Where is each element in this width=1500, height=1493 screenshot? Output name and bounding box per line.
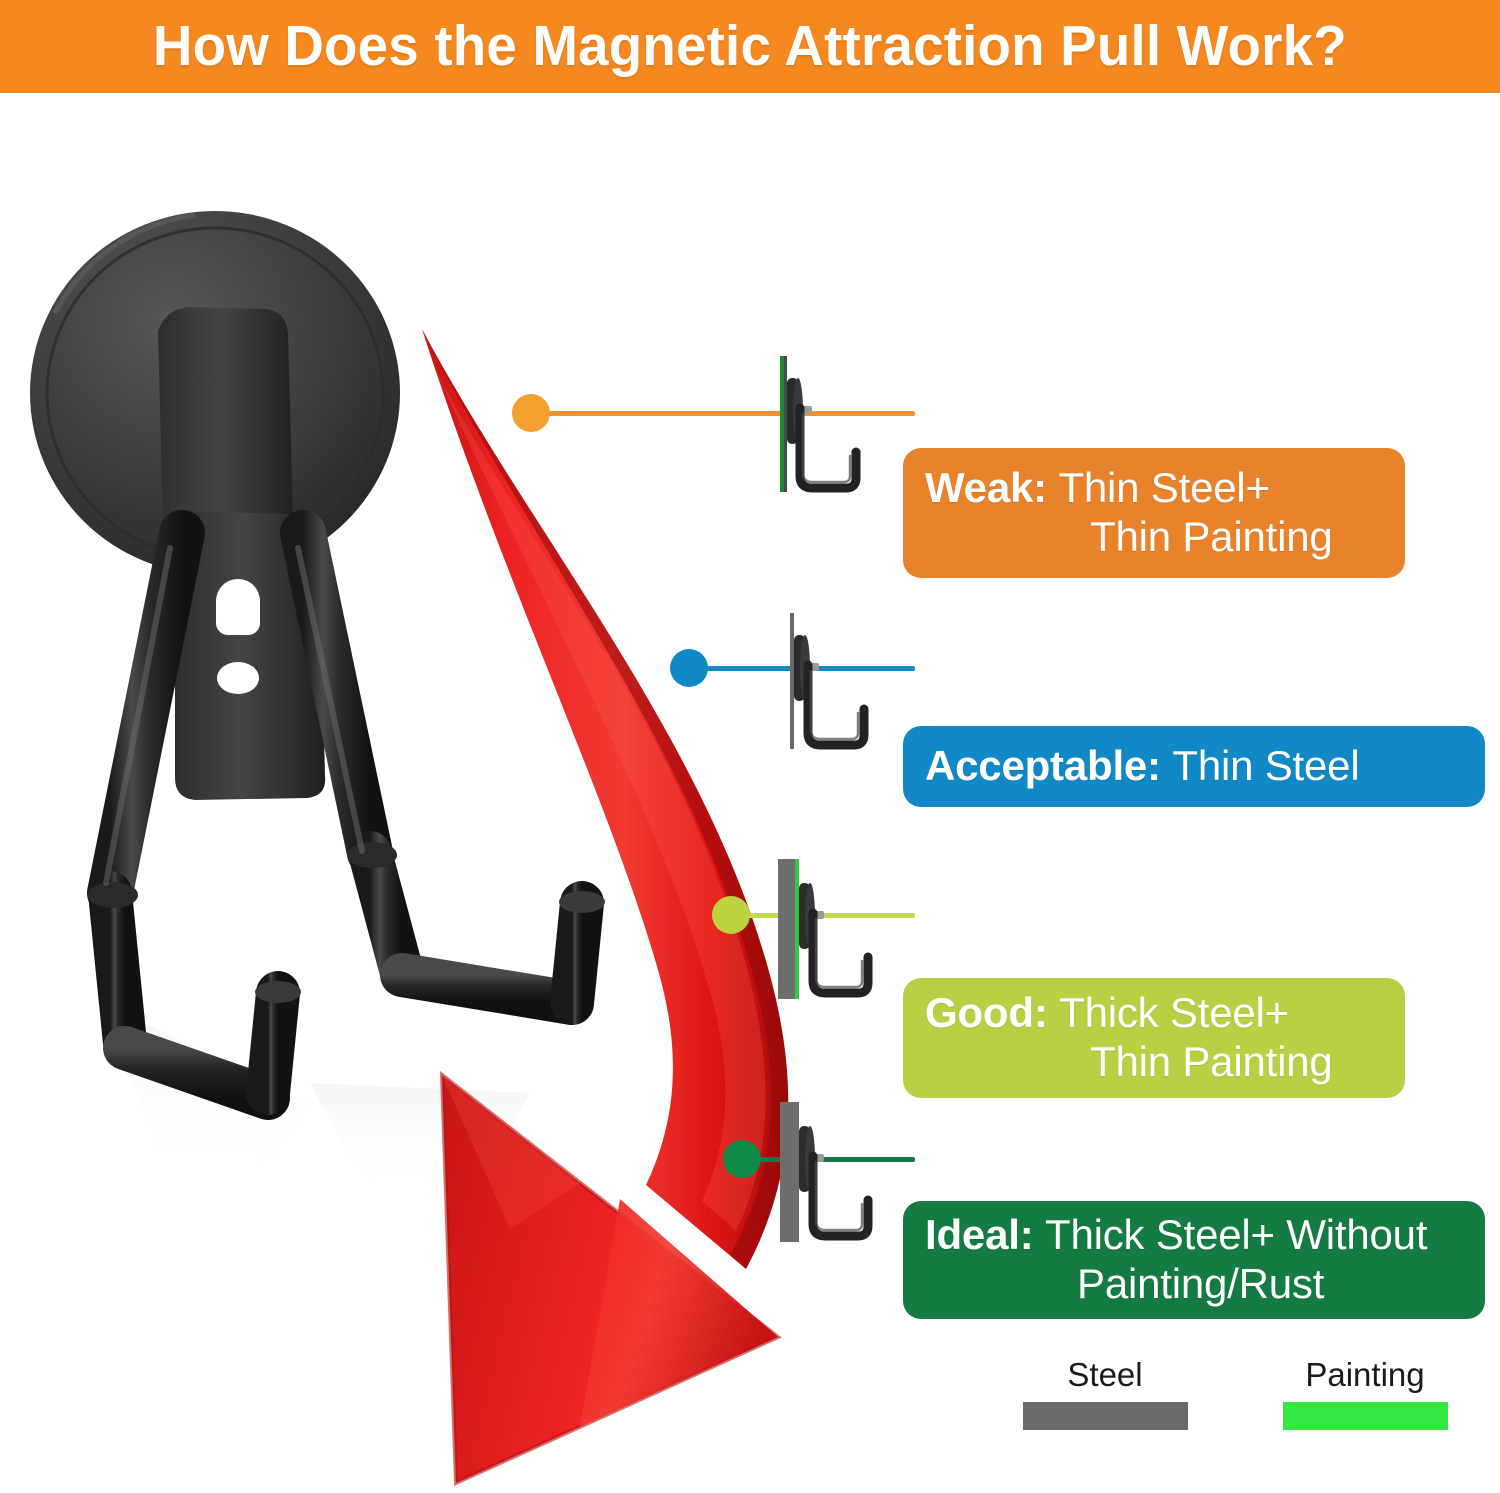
- callout-desc-line2-good: Thin Painting: [1090, 1038, 1333, 1085]
- infographic-stage: Weak: Thin Steel+ Thin Painting Acceptab…: [0, 93, 1500, 1443]
- callout-desc-line2-weak: Thin Painting: [1090, 513, 1333, 560]
- callout-rank-good: Good: [925, 989, 1034, 1036]
- legend-label-steel: Steel: [1010, 1358, 1200, 1393]
- callout-separator-good: :: [1034, 989, 1059, 1036]
- callout-separator-weak: :: [1033, 464, 1058, 511]
- callout-rank-weak: Weak: [925, 464, 1033, 511]
- callout-badge-weak[interactable]: Weak: Thin Steel+ Thin Painting: [903, 448, 1405, 578]
- callout-desc-line2-ideal: Painting/Rust: [1077, 1260, 1324, 1307]
- callout-desc-line1-acceptable: Thin Steel: [1172, 742, 1359, 789]
- legend: Steel Painting: [1010, 1358, 1490, 1443]
- callout-badge-good[interactable]: Good: Thick Steel+ Thin Painting: [903, 978, 1405, 1098]
- callout-desc-line1-good: Thick Steel+: [1059, 989, 1289, 1036]
- callout-separator-acceptable: :: [1147, 742, 1172, 789]
- legend-swatch-steel: [1023, 1402, 1188, 1430]
- callout-badge-acceptable[interactable]: Acceptable: Thin Steel: [903, 726, 1485, 807]
- connector-dot-good: [712, 896, 750, 934]
- callout-badge-ideal[interactable]: Ideal: Thick Steel+ Without Painting/Rus…: [903, 1201, 1485, 1319]
- legend-item-painting: Painting: [1270, 1358, 1460, 1443]
- callout-rank-acceptable: Acceptable: [925, 742, 1147, 789]
- callout-separator-ideal: :: [1020, 1211, 1045, 1258]
- legend-swatch-painting: [1283, 1402, 1448, 1430]
- legend-label-painting: Painting: [1270, 1358, 1460, 1393]
- callout-desc-line1-weak: Thin Steel+: [1058, 464, 1269, 511]
- page-title: How Does the Magnetic Attraction Pull Wo…: [153, 18, 1347, 75]
- hook-diagram-weak: [760, 348, 880, 508]
- callout-desc-line1-ideal: Thick Steel+ Without: [1045, 1211, 1427, 1258]
- connector-dot-acceptable: [670, 649, 708, 687]
- hook-diagram-good: [768, 853, 888, 1013]
- callout-rank-ideal: Ideal: [925, 1211, 1020, 1258]
- hook-diagram-ideal: [768, 1096, 888, 1256]
- hook-diagram-acceptable: [768, 605, 888, 765]
- connector-dot-weak: [512, 394, 550, 432]
- connector-dot-ideal: [723, 1140, 761, 1178]
- legend-item-steel: Steel: [1010, 1358, 1200, 1443]
- header-banner: How Does the Magnetic Attraction Pull Wo…: [0, 0, 1500, 93]
